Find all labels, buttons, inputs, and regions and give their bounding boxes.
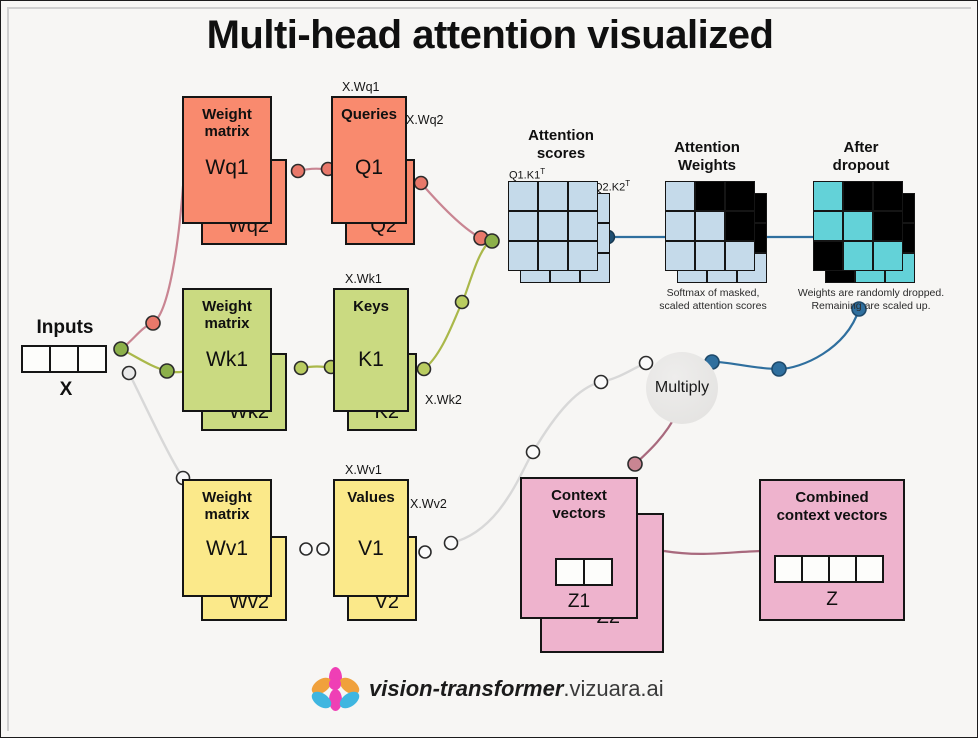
after-dropout-grid[interactable]: [813, 181, 903, 271]
combined-header-line1: Combined: [761, 490, 903, 507]
x-wv2-label: X.Wv2: [410, 497, 447, 511]
after-dropout-heading-line2: dropout: [791, 157, 931, 174]
inputs-symbol: X: [21, 379, 111, 401]
x-wq1-label: X.Wq1: [342, 80, 380, 94]
combined-header-line2: context vectors: [761, 508, 903, 525]
inputs-cells: [21, 345, 107, 373]
attention-weights-heading-line2: Weights: [637, 157, 777, 174]
attention-weights-caption-line1: Softmax of masked,: [635, 287, 791, 300]
attention-weights-caption-line2: scaled attention scores: [635, 300, 791, 313]
after-dropout-caption-line2: Remaining are scaled up.: [783, 300, 959, 313]
after-dropout-caption-line1: Weights are randomly dropped.: [783, 287, 959, 300]
z1-symbol: Z1: [520, 591, 638, 613]
attention-weights-heading-line1: Attention: [637, 139, 777, 156]
attention-scores-heading-line2: scores: [491, 145, 631, 162]
wv-header-line2: matrix: [184, 507, 270, 524]
footer-brand-name: vision-transformer: [369, 676, 563, 701]
k1-symbol: K1: [335, 348, 407, 372]
values-card[interactable]: Values V1: [333, 479, 409, 597]
q1k1-label: Q1.K1T: [509, 167, 545, 182]
values-header: Values: [335, 490, 407, 507]
wk-header-line1: Weight: [184, 299, 270, 316]
combined-cells: [774, 555, 884, 583]
q1-symbol: Q1: [333, 156, 405, 180]
x-wq2-label: X.Wq2: [406, 113, 444, 127]
wq-header-line2: matrix: [184, 124, 270, 141]
x-wk2-label: X.Wk2: [425, 393, 462, 407]
wv1-symbol: Wv1: [184, 537, 270, 561]
x-wk1-label: X.Wk1: [345, 272, 382, 286]
attention-scores-heading-line1: Attention: [491, 127, 631, 144]
weight-matrix-wq-card[interactable]: Weight matrix Wq1: [182, 96, 272, 224]
multiply-node[interactable]: Multiply: [646, 352, 718, 424]
q2k2-sup: T: [625, 179, 630, 188]
inputs-heading: Inputs: [15, 317, 115, 339]
weight-matrix-wv-card[interactable]: Weight matrix Wv1: [182, 479, 272, 597]
v1-symbol: V1: [335, 537, 407, 561]
z-symbol: Z: [759, 589, 905, 611]
after-dropout-heading-line1: After: [791, 139, 931, 156]
footer-domain: .vizuara.ai: [563, 676, 663, 701]
attention-weights-grid[interactable]: [665, 181, 755, 271]
q2k2-text: Q2.K2: [594, 182, 625, 194]
wv-header-line1: Weight: [184, 490, 270, 507]
multiply-label: Multiply: [655, 379, 709, 397]
footer-brand[interactable]: vision-transformer.vizuara.ai: [313, 667, 664, 711]
wk-header-line2: matrix: [184, 316, 270, 333]
footer-text: vision-transformer.vizuara.ai: [369, 676, 664, 702]
context-header-line1: Context: [522, 488, 636, 505]
flower-logo-icon: [313, 667, 357, 711]
diagram-canvas: Multi-head attention visualized: [0, 0, 978, 738]
wq1-symbol: Wq1: [184, 156, 270, 180]
context-cells: [555, 558, 613, 586]
context-header-line2: vectors: [522, 506, 636, 523]
wk1-symbol: Wk1: [184, 348, 270, 372]
keys-card[interactable]: Keys K1: [333, 288, 409, 412]
queries-card[interactable]: Queries Q1: [331, 96, 407, 224]
keys-header: Keys: [335, 299, 407, 316]
weight-matrix-wk-card[interactable]: Weight matrix Wk1: [182, 288, 272, 412]
x-wv1-label: X.Wv1: [345, 463, 382, 477]
wq-header-line1: Weight: [184, 107, 270, 124]
q2k2-label: Q2.K2T: [594, 179, 630, 194]
attention-scores-grid[interactable]: [508, 181, 598, 271]
q1k1-sup: T: [540, 167, 545, 176]
q1k1-text: Q1.K1: [509, 170, 540, 182]
connector-dots: [1, 1, 978, 738]
queries-header: Queries: [333, 107, 405, 124]
